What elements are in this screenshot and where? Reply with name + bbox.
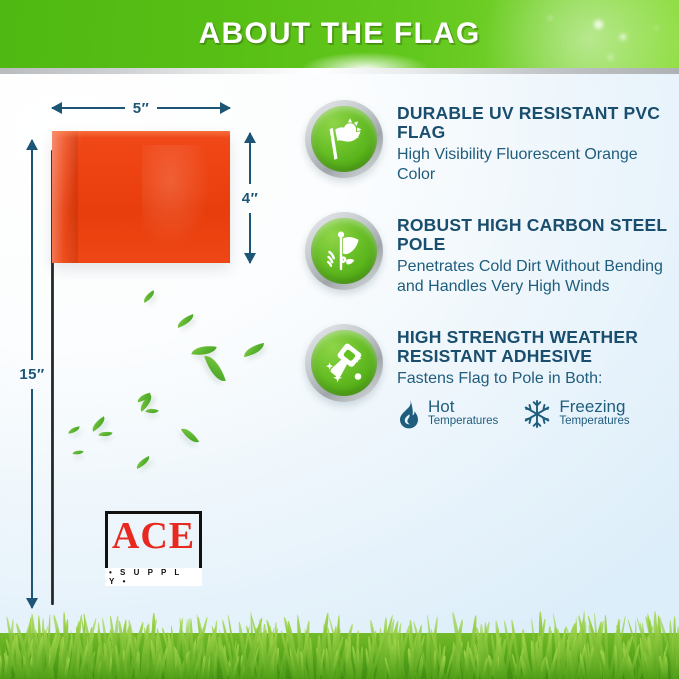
temperature-item-freezing: Freezing Temperatures — [522, 399, 629, 429]
feature-title: HIGH STRENGTH WEATHER RESISTANT ADHESIVE — [397, 328, 679, 366]
infographic-canvas: ABOUT THE FLAG 5″ 4″ 15″ ACE • — [0, 0, 679, 679]
arrow-down-icon — [249, 213, 251, 264]
feature-badge — [305, 100, 383, 178]
feature-list: DURABLE UV RESISTANT PVC FLAG High Visib… — [305, 100, 679, 457]
ace-supply-logo: ACE • S U P P L Y • — [105, 511, 202, 577]
orange-flag — [52, 131, 230, 263]
arrow-up-icon — [249, 133, 251, 184]
arrow-up-icon — [31, 140, 33, 360]
feature-description: Penetrates Cold Dirt Without Bending and… — [397, 257, 679, 296]
feature-badge — [305, 324, 383, 402]
temperature-sublabel: Temperatures — [559, 414, 629, 429]
feature-description: Fastens Flag to Pole in Both: — [397, 369, 679, 389]
header-banner: ABOUT THE FLAG — [0, 0, 679, 68]
banner-bottom-edge — [0, 68, 679, 74]
temperature-label: Hot — [428, 399, 498, 414]
temperature-sublabel: Temperatures — [428, 414, 498, 429]
flag-height-dimension: 4″ — [233, 133, 267, 263]
feature-item: ROBUST HIGH CARBON STEEL POLE Penetrates… — [305, 212, 679, 296]
leaf-icon — [73, 449, 84, 456]
page-title: ABOUT THE FLAG — [199, 17, 481, 51]
temperature-row: Hot Temperatures — [397, 399, 679, 429]
flagpole-wind-icon — [311, 218, 377, 284]
adhesive-bottle-icon — [311, 330, 377, 396]
feature-description: High Visibility Fluorescent Orange Color — [397, 145, 679, 184]
leaf-icon — [204, 352, 226, 385]
temperature-label: Freezing — [559, 399, 629, 414]
leaf-icon — [175, 314, 196, 328]
flag-width-dimension: 5″ — [52, 98, 230, 118]
temperature-item-hot: Hot Temperatures — [397, 399, 498, 429]
feature-item: DURABLE UV RESISTANT PVC FLAG High Visib… — [305, 100, 679, 184]
leaf-icon — [89, 416, 108, 431]
leaf-icon — [242, 343, 266, 357]
feature-badge — [305, 212, 383, 290]
feature-item: HIGH STRENGTH WEATHER RESISTANT ADHESIVE… — [305, 324, 679, 429]
leaf-icon — [134, 456, 151, 469]
banner-flare — [300, 52, 430, 68]
leaf-icon — [98, 430, 112, 439]
logo-brand-text: ACE — [105, 515, 202, 557]
pole-length-dimension: 15″ — [14, 140, 50, 608]
leaf-icon — [68, 426, 81, 434]
arrow-down-icon — [31, 389, 33, 609]
pole-length-label: 15″ — [19, 366, 44, 383]
feature-title: DURABLE UV RESISTANT PVC FLAG — [397, 104, 679, 142]
leaf-icon — [145, 406, 158, 416]
arrow-right-icon — [157, 107, 230, 109]
leaf-icon — [141, 290, 157, 303]
leaf-icon — [181, 425, 199, 447]
snowflake-icon — [522, 399, 552, 429]
flag-width-label: 5″ — [133, 100, 150, 117]
flag-sheen — [142, 145, 212, 249]
arrow-left-icon — [52, 107, 125, 109]
grass-band — [0, 603, 679, 679]
flag-height-label: 4″ — [242, 190, 259, 207]
flame-icon — [397, 399, 421, 429]
logo-tagline: • S U P P L Y • — [105, 568, 202, 586]
flag-sun-icon — [311, 106, 377, 172]
feature-title: ROBUST HIGH CARBON STEEL POLE — [397, 216, 679, 254]
